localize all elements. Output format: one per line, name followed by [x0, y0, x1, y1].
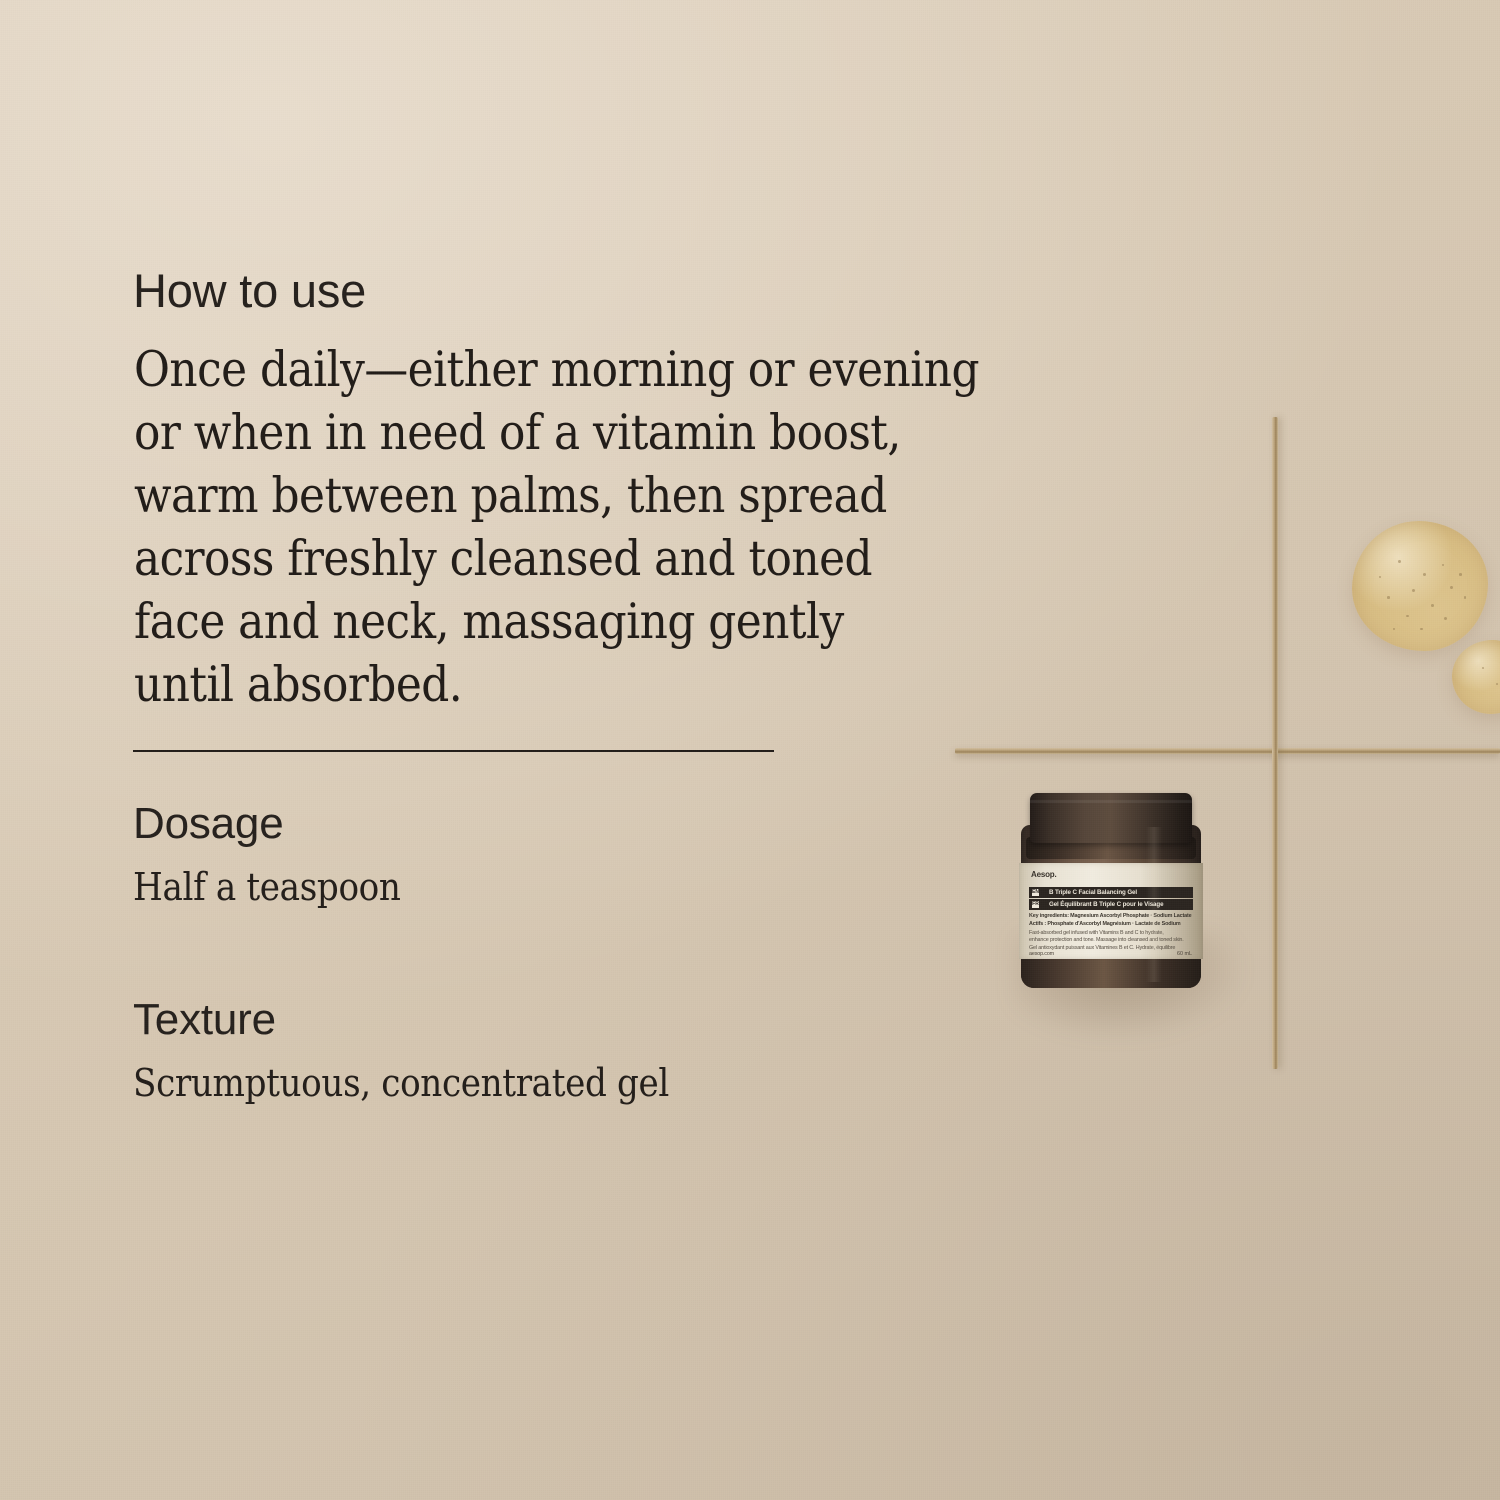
- product-name-en: B Triple C Facial Balancing Gel: [1049, 889, 1137, 896]
- how-to-use-line-5: face and neck, massaging gently: [134, 590, 966, 653]
- texture-value: Scrumptuous, concentrated gel: [133, 1064, 669, 1102]
- dosage-value: Half a teaspoon: [133, 868, 401, 906]
- product-usage-panel: How to use Once daily—either morning or …: [0, 0, 1500, 1500]
- product-name-bar-fr: FR Gel Équilibrant B Triple C pour le Vi…: [1029, 899, 1193, 910]
- description-en-line-2: enhance protection and tone. Massage int…: [1029, 938, 1184, 943]
- dosage-heading: Dosage: [133, 802, 430, 846]
- wooden-rod-vertical: [1272, 417, 1278, 1069]
- product-name-fr: Gel Équilibrant B Triple C pour le Visag…: [1049, 901, 1163, 908]
- jar-label: Aesop. EN B Triple C Facial Balancing Ge…: [1019, 863, 1203, 959]
- key-ingredients-fr: Actifs : Phosphate d'Ascorbyl Magnésium …: [1029, 922, 1180, 927]
- product-name-bar-en: EN B Triple C Facial Balancing Gel: [1029, 887, 1193, 898]
- aesop-logo: Aesop.: [1031, 870, 1056, 879]
- how-to-use-line-1: Once daily—either morning or evening: [134, 338, 966, 401]
- gel-droplet-small: [1452, 640, 1500, 714]
- section-divider: [133, 750, 774, 752]
- language-badge-fr: FR: [1032, 901, 1039, 908]
- gel-droplet-large: [1352, 521, 1488, 651]
- product-volume: 60 mL: [1177, 951, 1192, 957]
- wooden-rod-horizontal: [955, 748, 1500, 754]
- jar-lid: [1030, 793, 1192, 843]
- how-to-use-line-4: across freshly cleansed and toned: [134, 527, 966, 590]
- language-badge-en: EN: [1032, 889, 1039, 896]
- description-en-line-1: Fast-absorbed gel infused with Vitamins …: [1029, 931, 1164, 936]
- how-to-use-line-2: or when in need of a vitamin boost,: [134, 401, 966, 464]
- texture-heading: Texture: [133, 998, 729, 1042]
- texture-section: Texture Scrumptuous, concentrated gel: [133, 998, 729, 1102]
- how-to-use-line-3: warm between palms, then spread: [134, 464, 966, 527]
- key-ingredients-en: Key ingredients: Magnesium Ascorbyl Phos…: [1029, 914, 1191, 919]
- product-jar: Aesop. EN B Triple C Facial Balancing Ge…: [1018, 793, 1204, 989]
- dosage-section: Dosage Half a teaspoon: [133, 802, 430, 906]
- how-to-use-line-6: until absorbed.: [134, 653, 966, 716]
- jar-base: [1021, 959, 1201, 988]
- product-url: aesop.com: [1029, 952, 1054, 957]
- how-to-use-heading: How to use: [133, 267, 366, 314]
- how-to-use-body: Once daily—either morning or evening or …: [134, 338, 966, 716]
